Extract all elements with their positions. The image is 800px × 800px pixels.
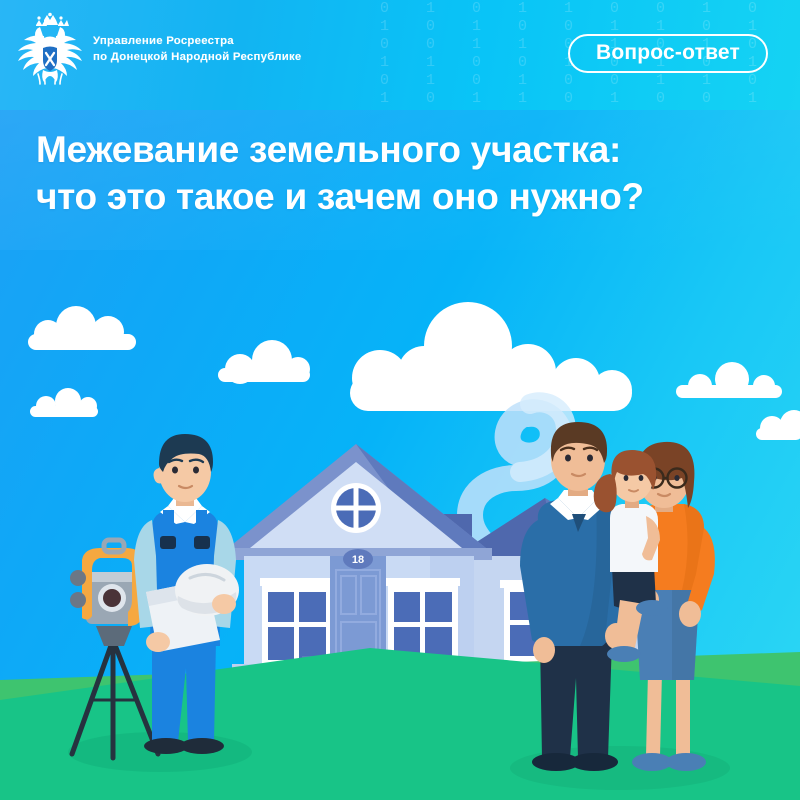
- child-shoe-upper: [636, 600, 668, 616]
- house-door-number-badge: 18: [343, 549, 373, 569]
- illustration-scene: 18: [0, 0, 800, 800]
- mother-hand-right: [679, 601, 701, 627]
- house-window-left: [260, 578, 334, 666]
- theodolite-body: [70, 540, 142, 626]
- father-hand-left: [533, 637, 555, 663]
- tripod-head: [96, 626, 132, 646]
- cloud-right: [676, 362, 782, 398]
- poster-root: 18: [0, 0, 800, 800]
- question-answer-badge[interactable]: Вопрос-ответ: [568, 34, 768, 73]
- surveyor-shoe-right: [180, 738, 224, 754]
- organization-logo[interactable]: Управление Росреестра по Донецкой Народн…: [16, 12, 302, 86]
- father-shoe-right: [570, 753, 618, 771]
- cloud-left-upper: [28, 306, 136, 350]
- cloud-far-right-low: [756, 410, 800, 440]
- organization-name: Управление Росреестра по Донецкой Народн…: [93, 33, 302, 65]
- page-title: Межевание земельного участка: что это та…: [36, 126, 644, 221]
- mother-shoe-right: [666, 753, 706, 771]
- mother-leg-right: [676, 672, 690, 756]
- surveyor-buckle-left: [160, 536, 176, 549]
- surveyor-hand-right: [212, 594, 236, 614]
- mother-leg-left: [646, 672, 662, 756]
- surveyor-buckle-right: [194, 536, 210, 549]
- attic-round-window: [331, 483, 381, 533]
- child-shoe-lower: [607, 646, 641, 662]
- cloud-left-lower: [30, 388, 98, 417]
- house-door-number-text: 18: [352, 554, 364, 566]
- cloud-center-big: [350, 302, 632, 411]
- cloud-mid-left: [218, 340, 310, 384]
- rosreestr-eagle-icon: [16, 12, 84, 86]
- surveyor-hand-left: [146, 632, 170, 652]
